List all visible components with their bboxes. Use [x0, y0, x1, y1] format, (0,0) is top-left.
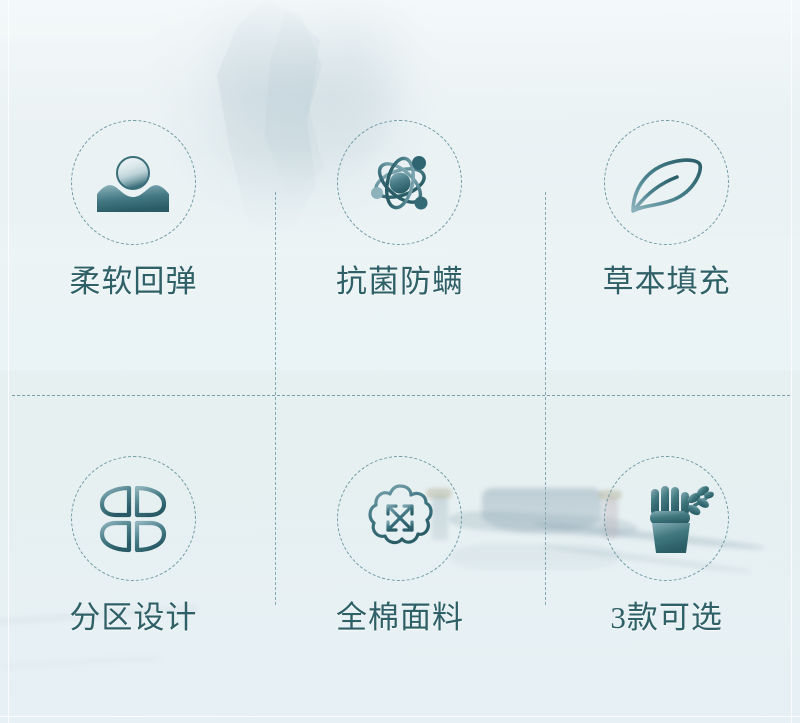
four-petal-clover-icon [96, 482, 170, 556]
cotton-boll-arrows-icon [361, 482, 439, 556]
product-feature-grid: 柔软回弹 [0, 0, 800, 723]
ball-on-cushion-icon [95, 150, 171, 216]
feature-grid: 柔软回弹 [0, 0, 800, 723]
feature-badge [604, 456, 729, 581]
feature-antibacterial-antimite[interactable]: 抗菌防螨 [267, 0, 534, 396]
atom-icon [362, 145, 438, 221]
feature-badge [337, 456, 462, 581]
feature-all-cotton-fabric[interactable]: 全棉面料 [267, 396, 534, 723]
feature-label: 全棉面料 [336, 601, 464, 635]
fist-holding-wheat-icon [624, 481, 710, 557]
feature-badge [604, 120, 729, 245]
feature-badge [337, 120, 462, 245]
feature-three-styles[interactable]: 3款可选 [533, 396, 800, 723]
feature-label: 3款可选 [610, 601, 723, 635]
leaf-icon [627, 151, 707, 215]
feature-badge [71, 120, 196, 245]
feature-soft-rebound[interactable]: 柔软回弹 [0, 0, 267, 396]
feature-zoned-design[interactable]: 分区设计 [0, 396, 267, 723]
feature-herbal-filling[interactable]: 草本填充 [533, 0, 800, 396]
feature-label: 分区设计 [69, 601, 197, 635]
feature-badge [71, 456, 196, 581]
feature-label: 柔软回弹 [69, 265, 197, 299]
feature-label: 抗菌防螨 [336, 265, 464, 299]
feature-label: 草本填充 [603, 265, 731, 299]
